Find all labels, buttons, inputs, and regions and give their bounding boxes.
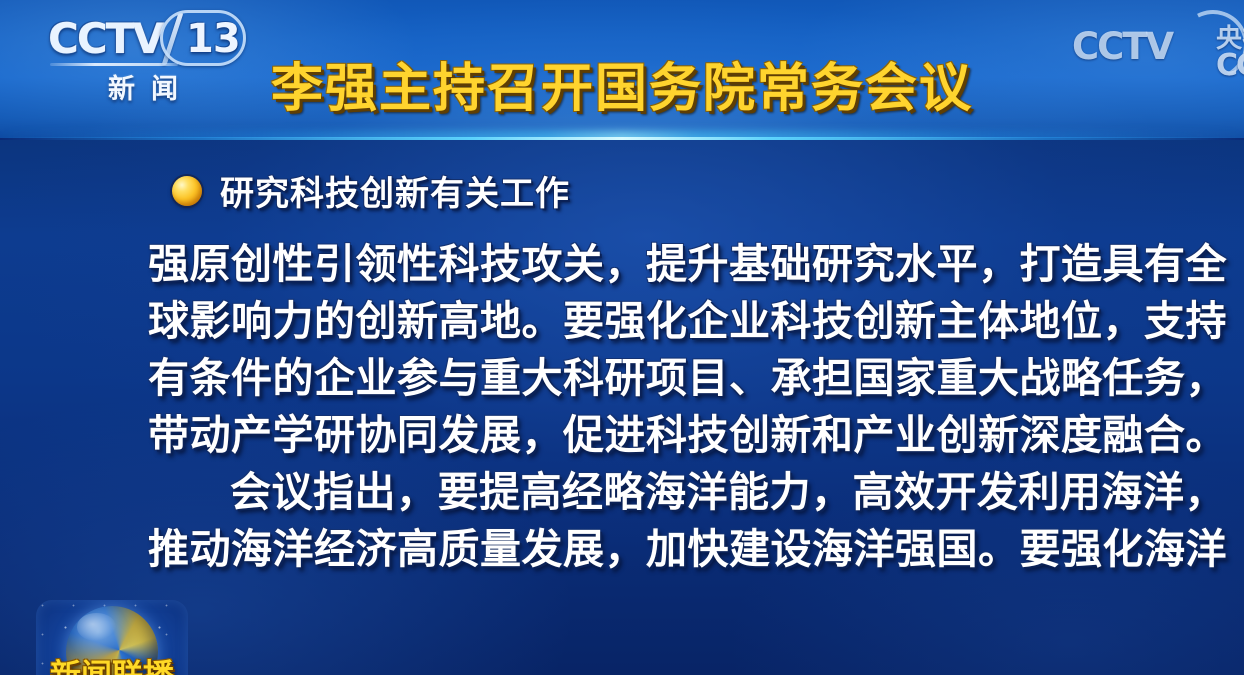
- body-line: 强原创性引领性科技攻关，提升基础研究水平，打造具有全: [148, 236, 1208, 293]
- body-text-block: 强原创性引领性科技攻关，提升基础研究水平，打造具有全 球影响力的创新高地。要强化…: [148, 236, 1208, 578]
- subtitle-text: 研究科技创新有关工作: [220, 166, 570, 215]
- program-logo-xinwen-lianbo: 新闻联播: [36, 600, 188, 675]
- body-line: 有条件的企业参与重大科研项目、承担国家重大战略任务，: [148, 350, 1208, 407]
- body-line: 会议指出，要提高经略海洋能力，高效开发利用海洋，: [148, 464, 1208, 521]
- body-line: 球影响力的创新高地。要强化企业科技创新主体地位，支持: [148, 293, 1208, 350]
- headline-title: 李强主持召开国务院常务会议: [0, 58, 1244, 120]
- subtitle-row: 研究科技创新有关工作: [172, 166, 570, 215]
- program-logo-label: 新闻联播: [36, 650, 188, 675]
- cctv-wordmark: CCTV: [46, 18, 163, 60]
- gold-sphere-bullet-icon: [172, 176, 202, 206]
- broadcast-news-lower-third: CCTV 13 新闻 CCTV 央视 CC 李强主持召开国务院常务会议 研究科技…: [0, 0, 1244, 675]
- body-line: 带动产学研协同发展，促进科技创新和产业创新深度融合。: [148, 407, 1208, 464]
- cctv-channel-number: 13: [186, 14, 240, 64]
- body-line: 推动海洋经济高质量发展，加快建设海洋强国。要强化海洋: [148, 521, 1208, 578]
